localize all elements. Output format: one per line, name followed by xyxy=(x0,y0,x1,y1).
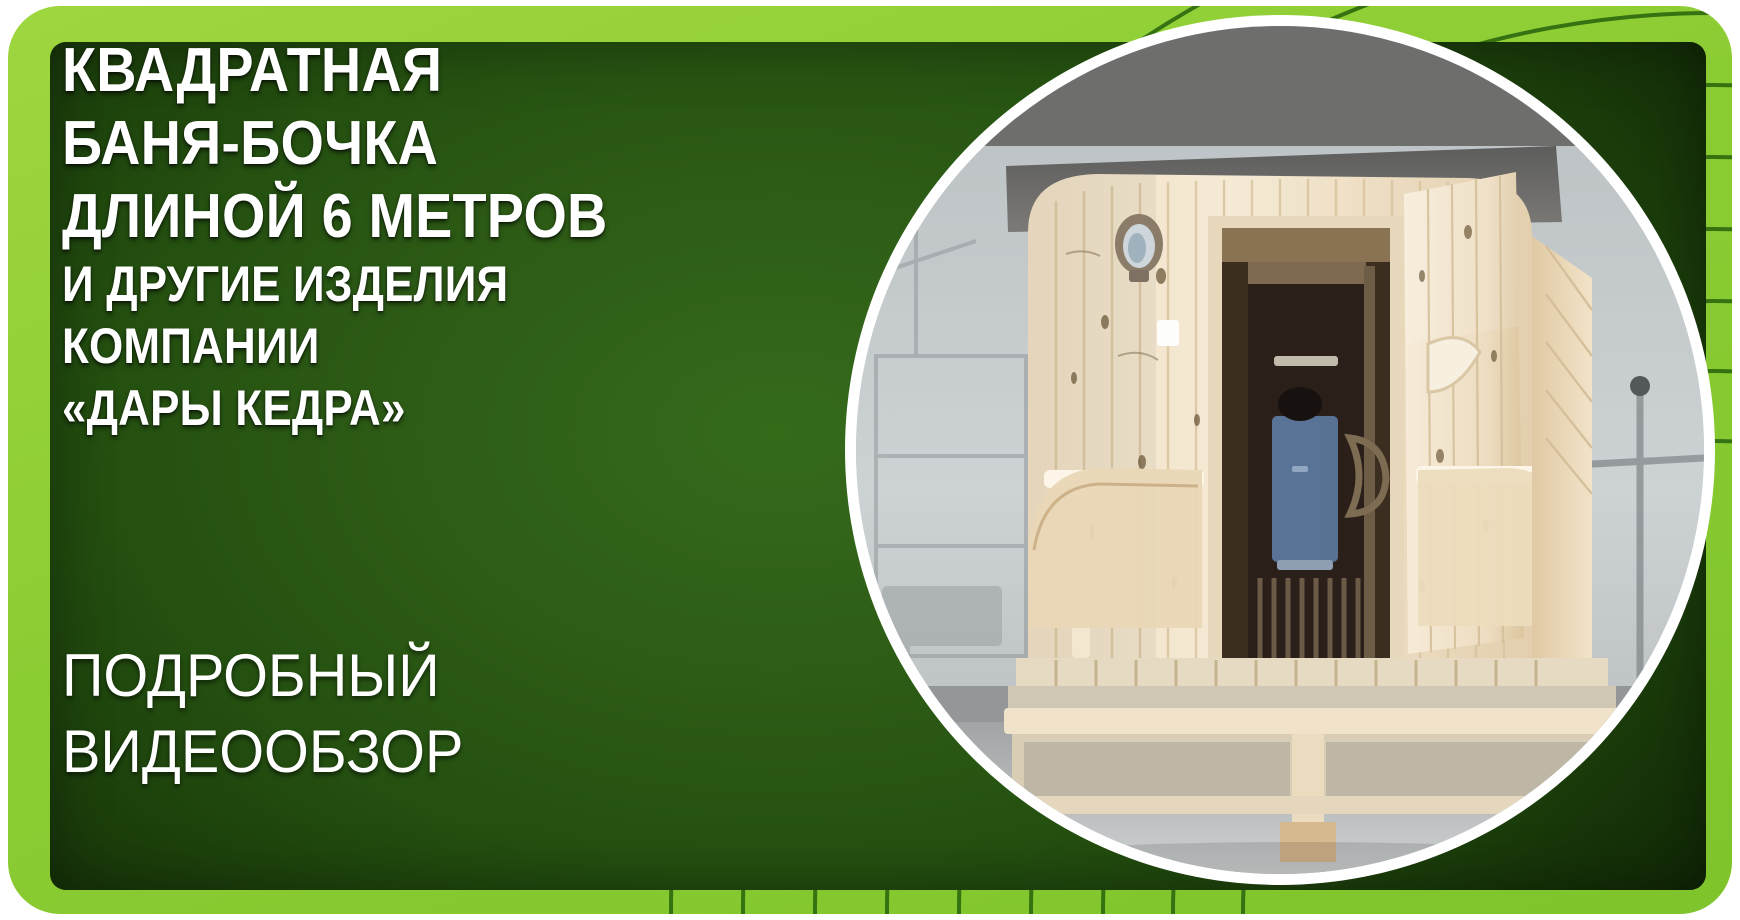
sauna-photo xyxy=(856,26,1704,874)
subhead-line-2: КОМПАНИИ xyxy=(62,315,713,377)
cta-block: ПОДРОБНЫЙ ВИДЕООБЗОР xyxy=(62,638,822,790)
poster-canvas: КВАДРАТНАЯ БАНЯ-БОЧКА ДЛИНОЙ 6 МЕТРОВ И … xyxy=(0,0,1740,920)
headline-line-1: КВАДРАТНАЯ xyxy=(62,34,728,107)
headline-block: КВАДРАТНАЯ БАНЯ-БОЧКА ДЛИНОЙ 6 МЕТРОВ И … xyxy=(62,34,802,439)
photo-circle-frame xyxy=(850,20,1710,880)
subhead-line-3: «ДАРЫ КЕДРА» xyxy=(62,377,713,439)
cta-line-1: ПОДРОБНЫЙ xyxy=(62,638,792,714)
cta-line-2: ВИДЕООБЗОР xyxy=(62,714,792,790)
headline-line-3: ДЛИНОЙ 6 МЕТРОВ xyxy=(62,180,728,253)
subhead-line-1: И ДРУГИЕ ИЗДЕЛИЯ xyxy=(62,253,713,315)
headline-line-2: БАНЯ-БОЧКА xyxy=(62,107,728,180)
